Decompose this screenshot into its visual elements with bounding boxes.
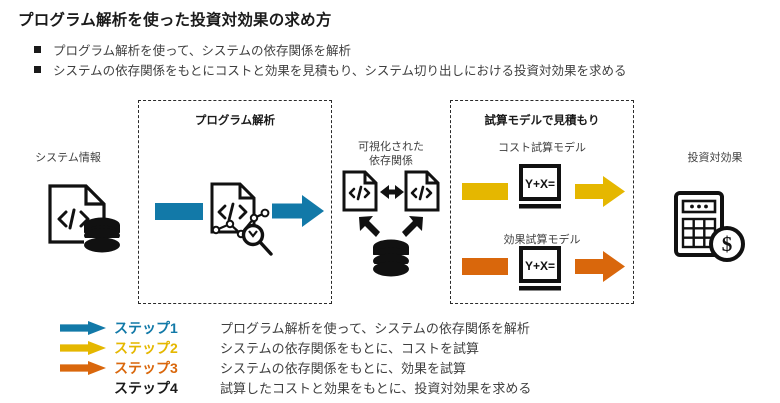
bullet-text: プログラム解析を使って、システムの依存関係を解析: [53, 44, 351, 58]
step1-arrow-out: [272, 194, 324, 228]
step1-legend-arrow-icon: [60, 321, 106, 335]
double-arrow-diagonal-left-icon: [359, 216, 380, 237]
effect-monitor-formula-icon: Y+X=: [513, 245, 567, 297]
source-caption: システム情報: [8, 152, 128, 166]
visualized-dependency-icon-group: [338, 168, 446, 278]
orange-arrow-right-icon: [575, 250, 625, 283]
step3-arrow-bar-in: [462, 258, 508, 275]
yellow-arrow-right-icon: [575, 175, 625, 208]
database-icon: [84, 218, 120, 253]
step2-arrow-out: [575, 175, 625, 208]
monitor-formula-icon-svg: Y+X=: [513, 245, 567, 297]
bullet-text: システムの依存関係をもとにコストと効果を見積もり、システム切り出しにおける投資対…: [53, 64, 627, 78]
group-title-estimation: 試算モデルで見積もり: [450, 112, 634, 128]
analysis-icon-svg: [198, 180, 278, 260]
step2-legend-arrow-icon: [60, 341, 106, 355]
step1-arrow-bar-in: [155, 203, 203, 220]
legend-step-label: ステップ4: [114, 378, 178, 398]
page-title: プログラム解析を使った投資対効果の求め方: [18, 8, 332, 30]
bullet-item: プログラム解析を使って、システムの依存関係を解析: [34, 40, 351, 59]
svg-text:$: $: [722, 232, 733, 256]
step3-arrow-out: [575, 250, 625, 283]
square-bullet-icon: [34, 66, 41, 73]
double-arrow-diagonal-right-icon: [402, 216, 423, 237]
legend-step-desc: システムの依存関係をもとに、コストを試算: [220, 338, 479, 357]
legend-step-label: ステップ2: [114, 338, 178, 358]
cost-model-caption: コスト試算モデル: [450, 142, 634, 156]
formula-label: Y+X=: [525, 177, 555, 191]
dependency-relations-icon: [338, 168, 446, 278]
database-icon: [373, 240, 409, 277]
legend-step-desc: プログラム解析を使って、システムの依存関係を解析: [220, 318, 530, 337]
bullet-item: システムの依存関係をもとにコストと効果を見積もり、システム切り出しにおける投資対…: [34, 60, 627, 79]
legend-step-desc: システムの依存関係をもとに、効果を試算: [220, 358, 466, 377]
result-icon-group: $: [672, 190, 748, 266]
dependency-graph-magnifier-icon: [198, 180, 278, 260]
cost-monitor-formula-icon: Y+X=: [513, 163, 567, 215]
legend-step-label: ステップ3: [114, 358, 178, 378]
visualized-caption-line1: 可視化された: [336, 141, 446, 155]
code-document-icon-left: [344, 172, 376, 210]
blue-arrow-right-icon: [272, 194, 324, 228]
visualized-caption-line2: 依存関係: [336, 155, 446, 169]
visualized-caption: 可視化された 依存関係: [336, 141, 446, 169]
formula-label: Y+X=: [525, 259, 555, 273]
step3-legend-arrow-icon: [60, 361, 106, 375]
legend-step-label: ステップ1: [114, 318, 178, 338]
slide-canvas: プログラム解析を使った投資対効果の求め方 プログラム解析を使って、システムの依存…: [0, 0, 780, 403]
legend-step-desc: 試算したコストと効果をもとに、投資対効果を求める: [220, 378, 531, 397]
code-document-icon-right: [406, 172, 438, 210]
group-title-program-analysis: プログラム解析: [138, 112, 332, 128]
result-caption: 投資対効果: [655, 152, 775, 166]
square-bullet-icon: [34, 46, 41, 53]
code-document-icon: [44, 182, 124, 258]
step2-arrow-bar-in: [462, 183, 508, 200]
source-icon-group: [44, 182, 124, 258]
calculator-icon: $: [672, 190, 748, 266]
double-arrow-horizontal-icon: [380, 185, 404, 199]
monitor-formula-icon-svg: Y+X=: [513, 163, 567, 215]
dollar-coin-icon: $: [711, 228, 743, 260]
